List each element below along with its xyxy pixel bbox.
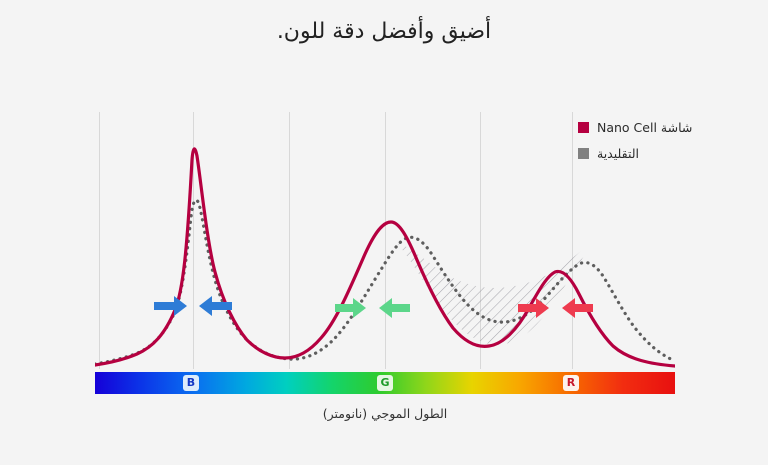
band-badge-blue: B	[183, 375, 199, 391]
spectrum-gradient-bar: B G R	[95, 372, 675, 394]
legend-swatch-conventional	[578, 148, 589, 159]
legend-item-conventional: التقليدية	[578, 146, 758, 161]
arrow-blue-right-icon	[154, 296, 187, 316]
legend-label-conventional: التقليدية	[597, 146, 639, 161]
legend-item-nanocell: شاشة Nano Cell	[578, 120, 758, 135]
arrow-red-left-icon	[562, 298, 593, 318]
x-axis-label: الطول الموجي (نانومتر)	[95, 406, 675, 421]
page-title: أضيق وأفضل دقة للون.	[0, 18, 768, 47]
arrow-green-right-icon	[335, 298, 366, 318]
legend-label-nanocell: شاشة Nano Cell	[597, 120, 692, 135]
infographic-chart: أضيق وأفضل دقة للون.	[0, 0, 768, 465]
arrow-blue-left-icon	[199, 296, 232, 316]
legend-swatch-nanocell	[578, 122, 589, 133]
band-badge-green: G	[377, 375, 393, 391]
band-badge-red: R	[563, 375, 579, 391]
arrow-red-right-icon	[518, 298, 549, 318]
arrow-green-left-icon	[379, 298, 410, 318]
chart-legend: شاشة Nano Cell التقليدية	[578, 120, 758, 172]
